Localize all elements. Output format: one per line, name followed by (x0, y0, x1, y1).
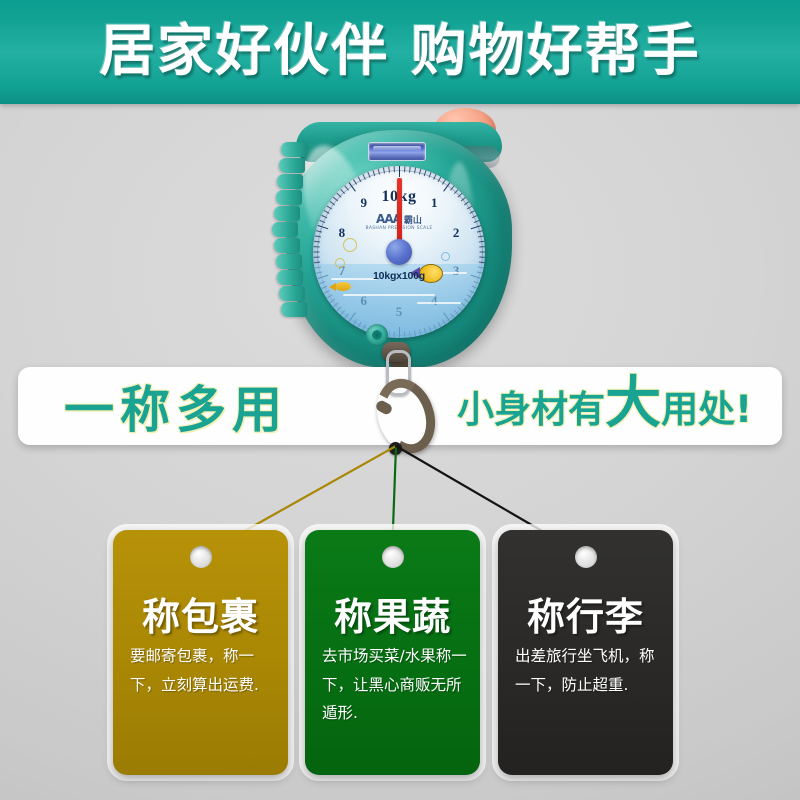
ridge-tooth (279, 286, 305, 301)
ridge-tooth (276, 254, 302, 269)
bubble-icon (335, 258, 345, 268)
use-case-tag[interactable]: 称包裹 要邮寄包裹，称一下，立刻算出运费. (113, 530, 288, 775)
use-case-tag[interactable]: 称果蔬 去市场买菜/水果称一下，让黑心商贩无所遁形. (305, 530, 480, 775)
wave-line (331, 278, 377, 280)
right-emphasis: 大 (605, 379, 661, 429)
feature-banner-right-text: 小身材有 大 用处! (457, 379, 752, 433)
ridge-tooth (281, 142, 307, 157)
tare-slider-window (368, 142, 426, 161)
tag-title: 称果蔬 (305, 586, 480, 641)
fish-icon (335, 282, 351, 291)
dial-capacity-spec: 10kgx100g (373, 270, 425, 282)
scale-dial: 123456789 10kg AAA 霸山 BASHAN PRECISION S… (313, 166, 485, 338)
product-poster: 居家好伙伴 购物好帮手 123456789 10kg AAA 霸山 BASHAN… (0, 0, 800, 800)
right-suffix: 用处! (661, 379, 752, 433)
tag-hole (575, 546, 597, 568)
string-knot (389, 442, 402, 455)
dial-number: 1 (431, 195, 438, 211)
brand-name-cn: 霸山 (404, 213, 422, 226)
ridge-tooth (279, 158, 305, 173)
tag-title: 称包裹 (113, 586, 288, 641)
ridge-tooth (281, 302, 307, 317)
tag-description: 去市场买菜/水果称一下，让黑心商贩无所遁形. (322, 642, 467, 728)
dial-number: 9 (360, 195, 367, 211)
tag-description: 出差旅行坐飞机，称一下，防止超重. (515, 642, 660, 699)
bubble-icon (441, 252, 450, 261)
ridge-tooth (276, 190, 302, 205)
ridge-tooth (272, 222, 298, 237)
zero-adjust-screw[interactable] (366, 324, 388, 346)
hanging-scale-product: 123456789 10kg AAA 霸山 BASHAN PRECISION S… (262, 104, 538, 374)
dial-number: 2 (453, 225, 460, 241)
tag-hole (190, 546, 212, 568)
ridge-tooth (277, 270, 303, 285)
wave-line (343, 294, 435, 296)
tag-hole (382, 546, 404, 568)
right-prefix: 小身材有 (457, 379, 605, 433)
header-title: 居家好伙伴 购物好帮手 (99, 24, 701, 80)
dial-hub (386, 239, 412, 265)
feature-banner-left-text: 一称多用 (64, 370, 288, 442)
header-banner: 居家好伙伴 购物好帮手 (0, 0, 800, 104)
ridge-tooth (274, 238, 300, 253)
use-case-tag[interactable]: 称行李 出差旅行坐飞机，称一下，防止超重. (498, 530, 673, 775)
scale-hook (370, 350, 422, 460)
bubble-icon (343, 238, 357, 252)
tag-description: 要邮寄包裹，称一下，立刻算出运费. (130, 642, 275, 699)
wave-line (417, 302, 461, 304)
tag-title: 称行李 (498, 586, 673, 641)
ridge-tooth (274, 206, 300, 221)
scale-ridged-edge (272, 142, 316, 322)
ridge-tooth (277, 174, 303, 189)
